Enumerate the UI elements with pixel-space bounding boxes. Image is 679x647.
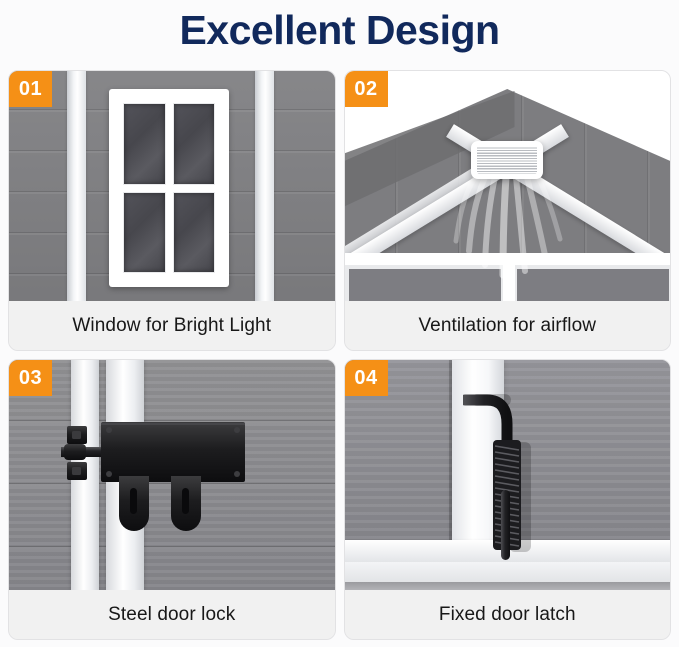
door-lock-photo: 03	[9, 360, 335, 590]
feature-card-window[interactable]: 01 Window for Bright Light	[8, 70, 336, 351]
steel-barrel-bolt	[61, 420, 291, 540]
window-pane	[123, 103, 166, 185]
window-pane	[123, 192, 166, 274]
feature-card-ventilation[interactable]: 02 Ventilation for airflow	[344, 70, 672, 351]
window-photo: 01	[9, 71, 335, 301]
feature-card-door-latch[interactable]: 04 Fixed door latch	[344, 359, 672, 640]
card-caption-ventilation: Ventilation for airflow	[345, 301, 671, 350]
window-pane	[173, 192, 216, 274]
vent-louver-unit	[471, 141, 543, 179]
wall-trim-left	[67, 71, 86, 301]
card-caption-door-lock: Steel door lock	[9, 590, 335, 639]
feature-card-grid: 01 Window for Bright Light	[8, 70, 671, 640]
page-title: Excellent Design	[0, 0, 679, 52]
feature-card-door-lock[interactable]: 03 Steel door lock	[8, 359, 336, 640]
design-feature-page: Excellent Design 01 Window for Bright	[0, 0, 679, 647]
window-frame	[109, 89, 229, 287]
door-latch-photo: 04	[345, 360, 671, 590]
card-badge-03: 03	[9, 360, 52, 396]
vent-louver-slats	[477, 146, 537, 174]
ventilation-photo: 02	[345, 71, 671, 301]
floor-strip	[345, 582, 671, 590]
wall-trim-right	[255, 71, 274, 301]
card-caption-window: Window for Bright Light	[9, 301, 335, 350]
fixed-door-latch-rod	[463, 390, 573, 560]
window-panes	[118, 98, 220, 278]
card-caption-door-latch: Fixed door latch	[345, 590, 671, 639]
airflow-streaks	[453, 175, 565, 293]
card-badge-02: 02	[345, 71, 388, 107]
window-pane	[173, 103, 216, 185]
card-badge-04: 04	[345, 360, 388, 396]
card-badge-01: 01	[9, 71, 52, 107]
